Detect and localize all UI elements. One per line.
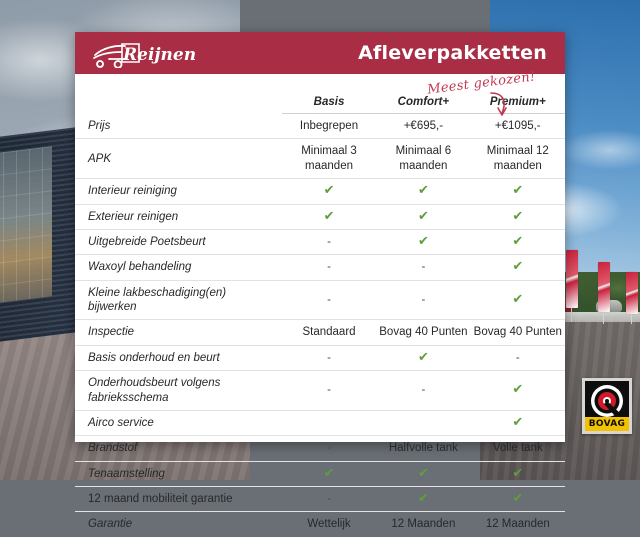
row-label: Exterieur reinigen bbox=[75, 204, 282, 229]
row-value-premium: ✔ bbox=[471, 371, 565, 411]
building-windows bbox=[0, 146, 52, 304]
dash-icon: - bbox=[327, 294, 331, 306]
bovag-badge-inner: BOVAG bbox=[585, 381, 629, 431]
check-icon: ✔ bbox=[512, 416, 523, 429]
row-value-basis: - bbox=[282, 229, 376, 254]
dash-icon: - bbox=[327, 261, 331, 273]
row-value-premium: ✔ bbox=[471, 280, 565, 320]
row-value-premium: Minimaal 12 maanden bbox=[471, 139, 565, 179]
column-header-premium: Premium+ bbox=[471, 96, 565, 114]
row-value-comfort: - bbox=[376, 255, 470, 280]
row-value-basis: - bbox=[282, 255, 376, 280]
row-value-premium: +€1095,- bbox=[471, 114, 565, 139]
row-value-premium: 12 Maanden bbox=[471, 512, 565, 537]
banner-flag bbox=[598, 262, 610, 312]
table-row: InspectieStandaardBovag 40 PuntenBovag 4… bbox=[75, 320, 565, 345]
check-icon: ✔ bbox=[418, 235, 429, 248]
row-label: APK bbox=[75, 139, 282, 179]
check-icon: ✔ bbox=[512, 492, 523, 505]
row-value-premium: ✔ bbox=[471, 461, 565, 486]
row-value-comfort: - bbox=[376, 280, 470, 320]
table-header: Basis Comfort+ Premium+ bbox=[75, 96, 565, 114]
dash-icon: - bbox=[421, 261, 425, 273]
table-body: PrijsInbegrepen+€695,-+€1095,-APKMinimaa… bbox=[75, 114, 565, 537]
row-value-basis: - bbox=[282, 280, 376, 320]
row-value-premium: ✔ bbox=[471, 255, 565, 280]
row-label: Onderhoudsbeurt volgens fabrieksschema bbox=[75, 371, 282, 411]
check-icon: ✔ bbox=[512, 210, 523, 223]
row-value-comfort: Bovag 40 Punten bbox=[376, 320, 470, 345]
table-row: Kleine lakbeschadiging(en) bijwerken--✔ bbox=[75, 280, 565, 320]
row-label: Uitgebreide Poetsbeurt bbox=[75, 229, 282, 254]
row-value-premium: ✔ bbox=[471, 179, 565, 204]
row-value-premium: Bovag 40 Punten bbox=[471, 320, 565, 345]
bovag-badge: BOVAG bbox=[582, 378, 632, 434]
reijnen-logo[interactable]: Reijnen bbox=[91, 32, 195, 74]
row-value-comfort: Halfvolle tank bbox=[376, 436, 470, 461]
table-row: Brandstof-Halfvolle tankVolle tank bbox=[75, 436, 565, 461]
banner-flag bbox=[566, 250, 578, 308]
row-value-basis: ✔ bbox=[282, 461, 376, 486]
table-row: 12 maand mobiliteit garantie-✔✔ bbox=[75, 487, 565, 512]
row-label: 12 maand mobiliteit garantie bbox=[75, 487, 282, 512]
row-value-premium: ✔ bbox=[471, 487, 565, 512]
page-title: Afleverpakketten bbox=[358, 42, 547, 64]
row-value-basis: ✔ bbox=[282, 179, 376, 204]
row-value-basis: - bbox=[282, 345, 376, 370]
check-icon: ✔ bbox=[418, 492, 429, 505]
row-value-comfort: ✔ bbox=[376, 204, 470, 229]
row-value-comfort: ✔ bbox=[376, 461, 470, 486]
check-icon: ✔ bbox=[512, 467, 523, 480]
row-value-premium: ✔ bbox=[471, 204, 565, 229]
table-row: Interieur reiniging✔✔✔ bbox=[75, 179, 565, 204]
check-icon: ✔ bbox=[324, 210, 335, 223]
row-value-comfort: ✔ bbox=[376, 487, 470, 512]
dash-icon: - bbox=[421, 294, 425, 306]
row-label: Tenaamstelling bbox=[75, 461, 282, 486]
check-icon: ✔ bbox=[324, 184, 335, 197]
row-label: Prijs bbox=[75, 114, 282, 139]
row-value-comfort bbox=[376, 410, 470, 435]
check-icon: ✔ bbox=[512, 260, 523, 273]
row-value-comfort: ✔ bbox=[376, 179, 470, 204]
row-label: Interieur reiniging bbox=[75, 179, 282, 204]
row-value-premium: ✔ bbox=[471, 410, 565, 435]
dash-icon: - bbox=[327, 442, 331, 454]
check-icon: ✔ bbox=[512, 383, 523, 396]
column-header-basis: Basis bbox=[282, 96, 376, 114]
row-value-basis: - bbox=[282, 487, 376, 512]
row-value-comfort: ✔ bbox=[376, 229, 470, 254]
row-value-comfort: Minimaal 6 maanden bbox=[376, 139, 470, 179]
dash-icon: - bbox=[327, 236, 331, 248]
check-icon: ✔ bbox=[418, 210, 429, 223]
table-row: Uitgebreide Poetsbeurt-✔✔ bbox=[75, 229, 565, 254]
row-value-basis bbox=[282, 410, 376, 435]
dash-icon: - bbox=[327, 384, 331, 396]
dash-icon: - bbox=[327, 493, 331, 505]
table-header-row: Basis Comfort+ Premium+ bbox=[75, 96, 565, 114]
table-row: Airco service✔ bbox=[75, 410, 565, 435]
dash-icon: - bbox=[516, 352, 520, 364]
check-icon: ✔ bbox=[418, 351, 429, 364]
row-value-premium: ✔ bbox=[471, 229, 565, 254]
row-label: Brandstof bbox=[75, 436, 282, 461]
row-label: Kleine lakbeschadiging(en) bijwerken bbox=[75, 280, 282, 320]
row-value-comfort: +€695,- bbox=[376, 114, 470, 139]
table-row: Exterieur reinigen✔✔✔ bbox=[75, 204, 565, 229]
row-value-basis: ✔ bbox=[282, 204, 376, 229]
column-header-feature bbox=[75, 96, 282, 114]
packages-table: Basis Comfort+ Premium+ PrijsInbegrepen+… bbox=[75, 96, 565, 537]
package-comparison-card: Reijnen Afleverpakketten Meest gekozen! … bbox=[75, 32, 565, 442]
table-row: Waxoyl behandeling--✔ bbox=[75, 255, 565, 280]
row-value-basis: Wettelijk bbox=[282, 512, 376, 537]
check-icon: ✔ bbox=[418, 467, 429, 480]
table-row: PrijsInbegrepen+€695,-+€1095,- bbox=[75, 114, 565, 139]
row-value-basis: Inbegrepen bbox=[282, 114, 376, 139]
table-row: GarantieWettelijk12 Maanden12 Maanden bbox=[75, 512, 565, 537]
bovag-wordmark-band: BOVAG bbox=[585, 417, 629, 431]
row-label: Waxoyl behandeling bbox=[75, 255, 282, 280]
row-value-comfort: ✔ bbox=[376, 345, 470, 370]
bovag-target-icon bbox=[590, 384, 624, 418]
check-icon: ✔ bbox=[512, 235, 523, 248]
row-value-basis: Minimaal 3 maanden bbox=[282, 139, 376, 179]
row-value-basis: - bbox=[282, 371, 376, 411]
bovag-wordmark: BOVAG bbox=[589, 419, 625, 429]
row-value-comfort: 12 Maanden bbox=[376, 512, 470, 537]
check-icon: ✔ bbox=[324, 467, 335, 480]
check-icon: ✔ bbox=[512, 184, 523, 197]
row-value-basis: Standaard bbox=[282, 320, 376, 345]
dash-icon: - bbox=[421, 384, 425, 396]
row-label: Basis onderhoud en beurt bbox=[75, 345, 282, 370]
dash-icon: - bbox=[327, 352, 331, 364]
column-header-comfort: Comfort+ bbox=[376, 96, 470, 114]
check-icon: ✔ bbox=[512, 293, 523, 306]
table-row: Onderhoudsbeurt volgens fabrieksschema--… bbox=[75, 371, 565, 411]
row-label: Airco service bbox=[75, 410, 282, 435]
table-row: Tenaamstelling✔✔✔ bbox=[75, 461, 565, 486]
row-label: Inspectie bbox=[75, 320, 282, 345]
car-logo-icon: Reijnen bbox=[91, 38, 195, 68]
row-label: Garantie bbox=[75, 512, 282, 537]
card-header: Reijnen Afleverpakketten bbox=[75, 32, 565, 74]
table-row: Basis onderhoud en beurt-✔- bbox=[75, 345, 565, 370]
check-icon: ✔ bbox=[418, 184, 429, 197]
row-value-premium: - bbox=[471, 345, 565, 370]
row-value-basis: - bbox=[282, 436, 376, 461]
row-value-premium: Volle tank bbox=[471, 436, 565, 461]
banner-flag bbox=[626, 272, 638, 314]
row-value-comfort: - bbox=[376, 371, 470, 411]
table-row: APKMinimaal 3 maandenMinimaal 6 maandenM… bbox=[75, 139, 565, 179]
